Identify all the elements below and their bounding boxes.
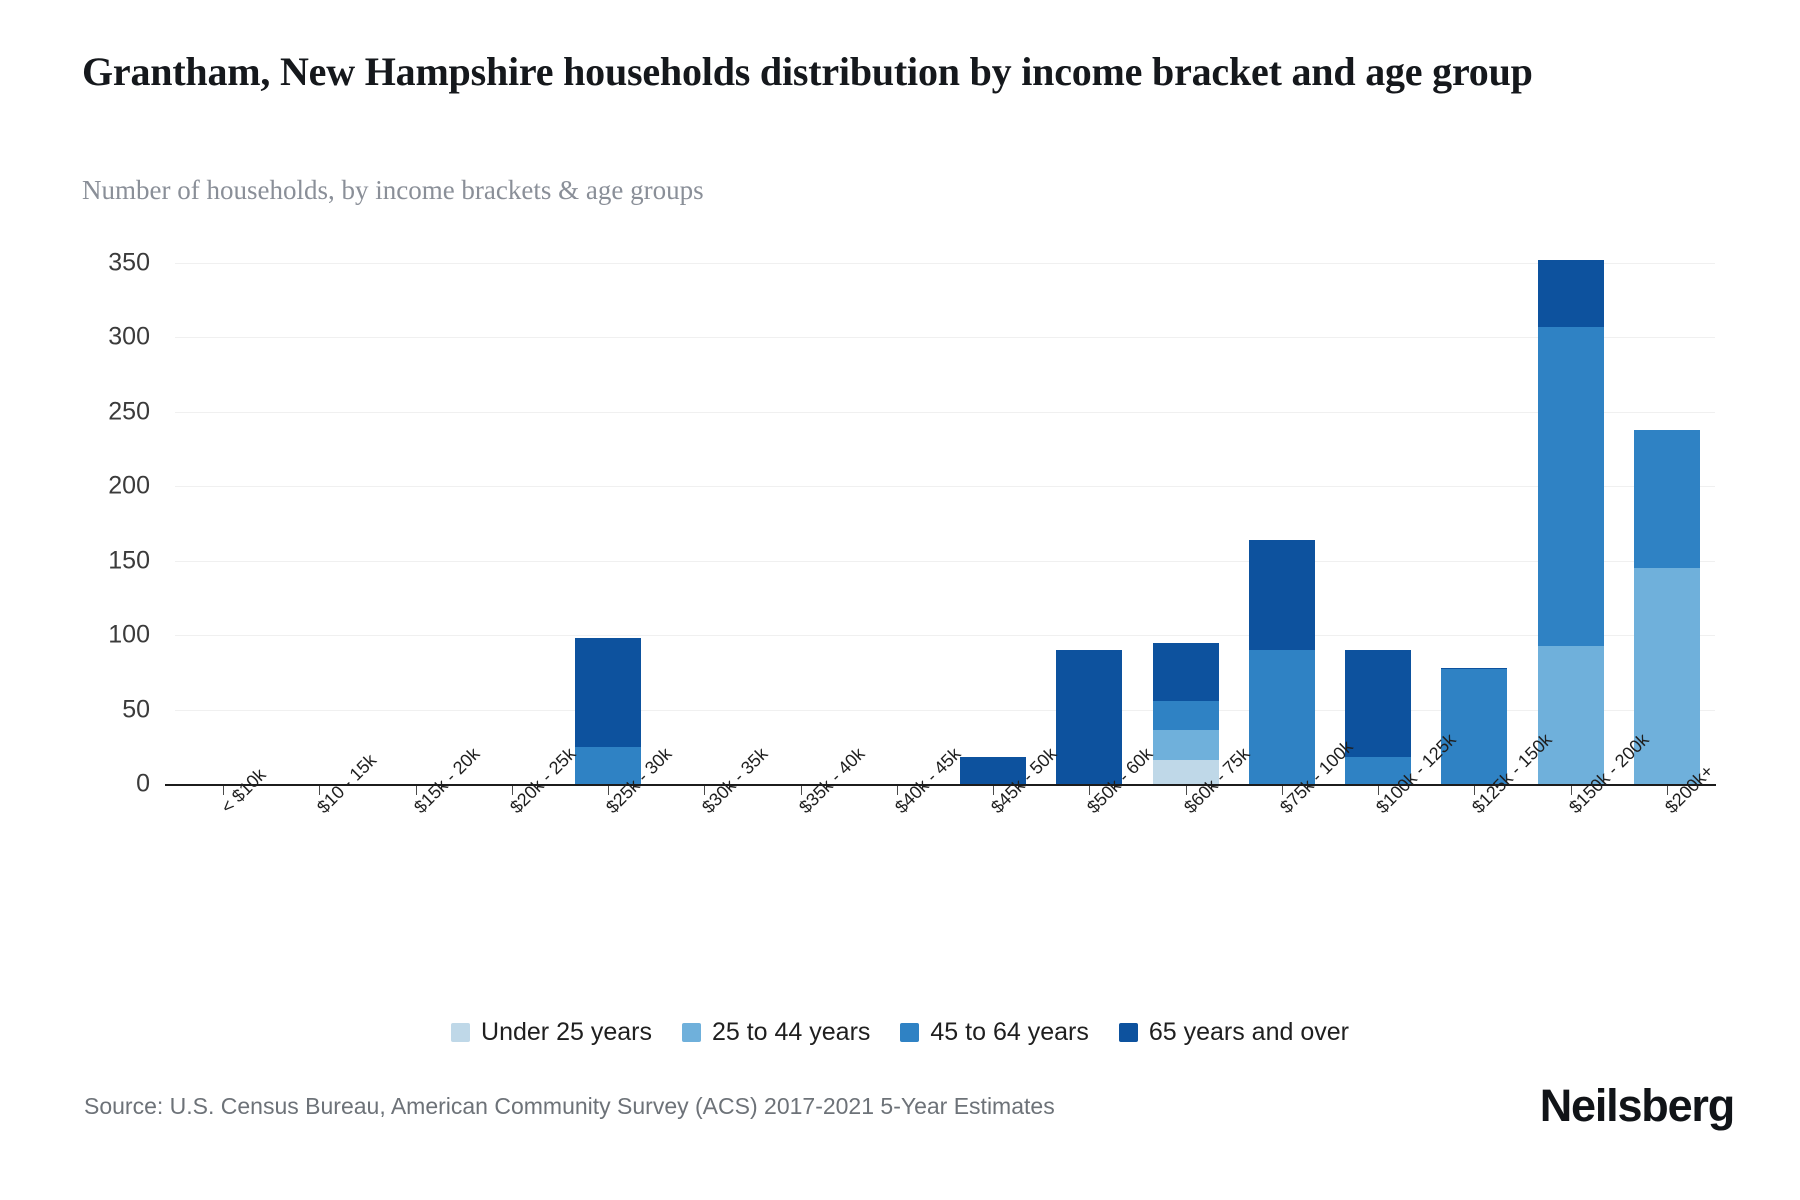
x-axis-tick-mark: [1282, 786, 1283, 795]
x-axis-tick-mark: [1667, 786, 1668, 795]
x-axis-tick-mark: [608, 786, 609, 795]
stacked-bar[interactable]: [1345, 650, 1411, 784]
legend-item[interactable]: 25 to 44 years: [682, 1018, 870, 1047]
legend-swatch-icon: [451, 1023, 470, 1042]
x-axis-tick-mark: [1378, 786, 1379, 795]
y-axis-tick-label: 200: [108, 472, 150, 501]
bar-segment[interactable]: [1634, 430, 1700, 568]
x-axis-tick-mark: [1571, 786, 1572, 795]
bar-group[interactable]: [1619, 263, 1715, 784]
bar-segment[interactable]: [1056, 650, 1122, 784]
chart-page: Grantham, New Hampshire households distr…: [0, 0, 1800, 1200]
legend-item-label: Under 25 years: [481, 1018, 652, 1047]
bar-group[interactable]: [464, 263, 560, 784]
bar-group[interactable]: [849, 263, 945, 784]
bar-segment[interactable]: [575, 638, 641, 747]
bar-segment[interactable]: [1249, 540, 1315, 650]
bar-group[interactable]: [945, 263, 1041, 784]
page-title: Grantham, New Hampshire households distr…: [82, 48, 1742, 95]
x-axis-tick-mark: [1474, 786, 1475, 795]
bar-series-container: [175, 263, 1715, 784]
legend-swatch-icon: [1119, 1023, 1138, 1042]
bar-group[interactable]: [560, 263, 656, 784]
stacked-bar[interactable]: [575, 638, 641, 784]
legend-item-label: 45 to 64 years: [930, 1018, 1088, 1047]
x-axis-tick-mark: [512, 786, 513, 795]
bar-group[interactable]: [1138, 263, 1234, 784]
x-axis-tick-mark: [801, 786, 802, 795]
bar-segment[interactable]: [1441, 669, 1507, 784]
bar-group[interactable]: [271, 263, 367, 784]
bar-group[interactable]: [1523, 263, 1619, 784]
bar-segment[interactable]: [1345, 650, 1411, 757]
x-axis-tick-mark: [993, 786, 994, 795]
bar-group[interactable]: [368, 263, 464, 784]
legend-item[interactable]: 65 years and over: [1119, 1018, 1349, 1047]
y-axis-tick-label: 250: [108, 397, 150, 426]
bar-group[interactable]: [1330, 263, 1426, 784]
bar-segment[interactable]: [1538, 260, 1604, 327]
brand-logo: Neilsberg: [1540, 1080, 1734, 1132]
x-axis-tick-mark: [1089, 786, 1090, 795]
plot-area: 050100150200250300350 < $10k$10 - 15k$15…: [175, 263, 1715, 784]
legend-swatch-icon: [900, 1023, 919, 1042]
legend-item-label: 25 to 44 years: [712, 1018, 870, 1047]
y-axis-tick-label: 50: [122, 695, 150, 724]
x-axis-tick-mark: [704, 786, 705, 795]
source-note: Source: U.S. Census Bureau, American Com…: [84, 1093, 1055, 1120]
page-subtitle: Number of households, by income brackets…: [82, 175, 1482, 206]
x-axis-tick-mark: [223, 786, 224, 795]
y-axis-tick-label: 350: [108, 249, 150, 278]
stacked-bar[interactable]: [1056, 650, 1122, 784]
y-axis-tick-label: 0: [136, 770, 150, 799]
stacked-bar[interactable]: [1441, 668, 1507, 784]
chart-legend: Under 25 years25 to 44 years45 to 64 yea…: [0, 1018, 1800, 1047]
bar-group[interactable]: [656, 263, 752, 784]
bar-segment[interactable]: [1153, 730, 1219, 760]
bar-segment[interactable]: [1153, 643, 1219, 701]
bar-group[interactable]: [1234, 263, 1330, 784]
legend-item[interactable]: 45 to 64 years: [900, 1018, 1088, 1047]
stacked-bar[interactable]: [1634, 430, 1700, 784]
bar-group[interactable]: [1426, 263, 1522, 784]
bar-group[interactable]: [1041, 263, 1137, 784]
stacked-bar[interactable]: [1249, 540, 1315, 784]
bar-group[interactable]: [753, 263, 849, 784]
bar-segment[interactable]: [1538, 327, 1604, 646]
legend-swatch-icon: [682, 1023, 701, 1042]
legend-item-label: 65 years and over: [1149, 1018, 1349, 1047]
bar-segment[interactable]: [1249, 650, 1315, 784]
stacked-bar[interactable]: [1153, 643, 1219, 784]
x-axis-tick-mark: [1186, 786, 1187, 795]
legend-item[interactable]: Under 25 years: [451, 1018, 652, 1047]
bar-group[interactable]: [175, 263, 271, 784]
y-axis-tick-label: 150: [108, 546, 150, 575]
y-axis-tick-label: 300: [108, 323, 150, 352]
x-axis-tick-mark: [416, 786, 417, 795]
x-axis-tick-mark: [319, 786, 320, 795]
bar-segment[interactable]: [1538, 646, 1604, 784]
y-axis-tick-label: 100: [108, 621, 150, 650]
bar-segment[interactable]: [1153, 701, 1219, 731]
stacked-bar[interactable]: [1538, 260, 1604, 784]
x-axis-tick-mark: [897, 786, 898, 795]
